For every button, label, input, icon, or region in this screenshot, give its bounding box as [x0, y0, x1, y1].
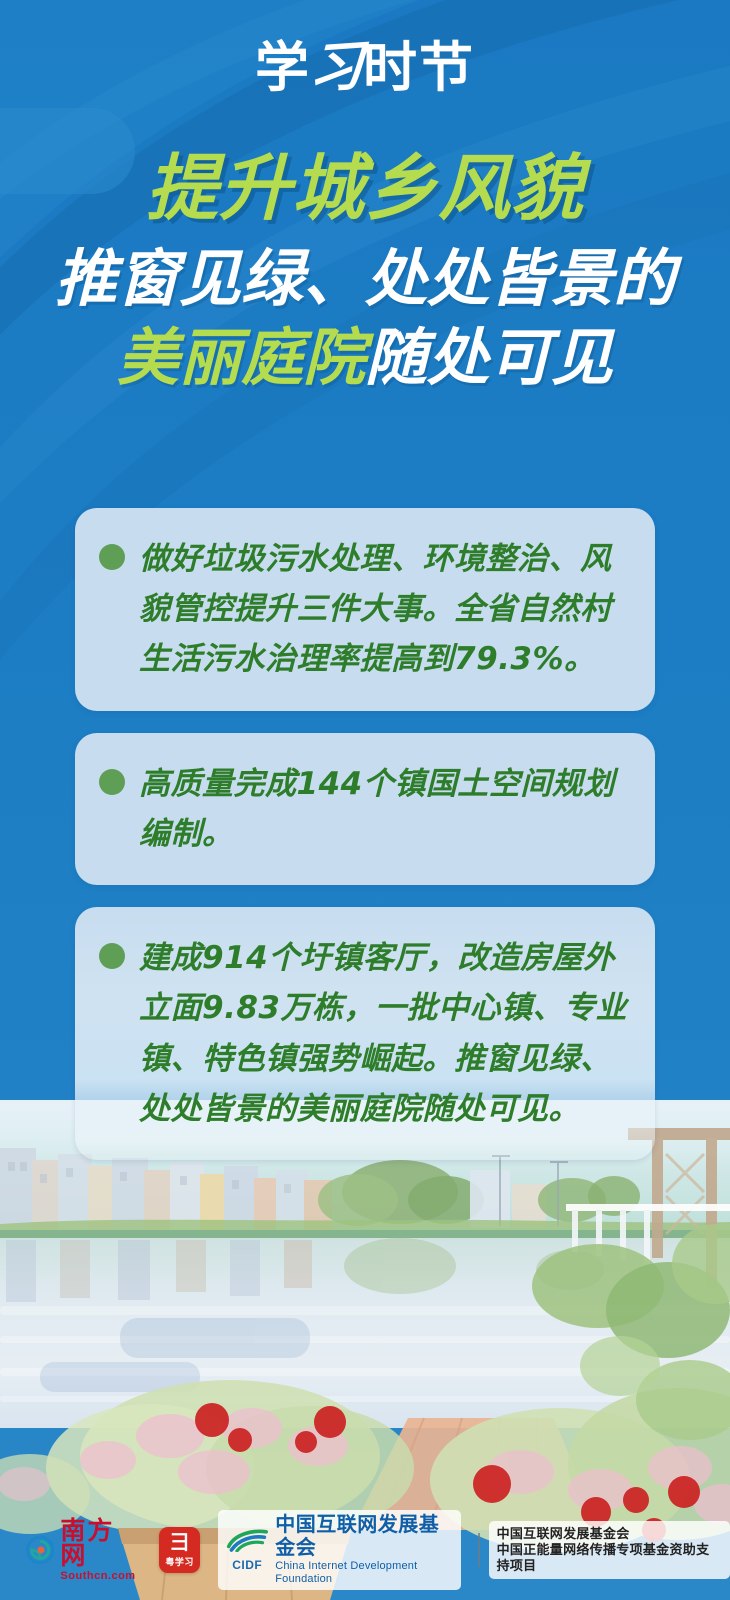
brand-char-script: 习	[308, 38, 366, 96]
wave-network-icon	[226, 1528, 268, 1552]
card-row: 做好垃圾污水处理、环境整治、风貌管控提升三件大事。全省自然村生活污水治理率提高到…	[99, 534, 629, 685]
bullet-dot-icon	[99, 769, 125, 795]
cidf-text: 中国互联网发展基金会 China Internet Development Fo…	[275, 1514, 453, 1585]
cidf-mark: CIDF	[226, 1528, 268, 1572]
cidf-cn: 中国互联网发展基金会	[275, 1514, 453, 1560]
yuexuexi-glyph: 彐	[170, 1532, 190, 1552]
brand-wordmark: 学习时节	[255, 40, 475, 95]
spiral-icon	[26, 1535, 54, 1565]
yuexuexi-badge[interactable]: 彐 粤学习	[159, 1527, 200, 1573]
page-title: 提升城乡风貌	[0, 150, 730, 228]
content-card: 做好垃圾污水处理、环境整治、风貌管控提升三件大事。全省自然村生活污水治理率提高到…	[75, 508, 655, 711]
card-text: 高质量完成144个镇国土空间规划编制。	[139, 759, 629, 859]
brand-char-1: 学	[255, 36, 311, 99]
brand-header: 学习时节	[0, 40, 730, 95]
subtitle-rest: 随处可见	[365, 321, 613, 394]
southcn-cn: 南方网	[60, 1518, 137, 1568]
cidf-logo[interactable]: CIDF 中国互联网发展基金会 China Internet Developme…	[218, 1510, 461, 1589]
yuexuexi-label: 粤学习	[165, 1555, 194, 1568]
card-row: 高质量完成144个镇国土空间规划编制。	[99, 759, 629, 859]
southcn-logo[interactable]: 南方网 Southcn.com	[26, 1518, 137, 1582]
cidf-en: China Internet Development Foundation	[275, 1560, 453, 1585]
fund-line-1: 中国互联网发展基金会	[497, 1526, 722, 1542]
southcn-en: Southcn.com	[60, 1571, 137, 1582]
subtitle-highlight: 美丽庭院	[117, 321, 365, 394]
content-card: 高质量完成144个镇国土空间规划编制。	[75, 733, 655, 885]
title-block: 提升城乡风貌 推窗见绿、处处皆景的 美丽庭院随处可见	[0, 150, 730, 393]
poster-root: 学习时节 提升城乡风貌 推窗见绿、处处皆景的 美丽庭院随处可见 做好垃圾污水处理…	[0, 0, 730, 1600]
footer-divider	[478, 1533, 480, 1567]
subtitle-line-1: 推窗见绿、处处皆景的	[0, 244, 730, 313]
card-text: 做好垃圾污水处理、环境整治、风貌管控提升三件大事。全省自然村生活污水治理率提高到…	[139, 534, 629, 685]
southcn-text: 南方网 Southcn.com	[60, 1518, 137, 1582]
footer-logo-bar: 南方网 Southcn.com 彐 粤学习 CIDF 中国互联网发展基金会 Ch…	[0, 1522, 730, 1578]
cidf-abbr: CIDF	[226, 1558, 268, 1572]
brand-char-rest: 时节	[363, 36, 475, 99]
fund-support-text: 中国互联网发展基金会 中国正能量网络传播专项基金资助支持项目	[489, 1521, 730, 1580]
card-text: 建成914个圩镇客厅，改造房屋外立面9.83万栋，一批中心镇、专业镇、特色镇强势…	[139, 933, 629, 1134]
bullet-dot-icon	[99, 943, 125, 969]
bullet-dot-icon	[99, 544, 125, 570]
fund-line-2: 中国正能量网络传播专项基金资助支持项目	[497, 1542, 722, 1575]
subtitle-line-2: 美丽庭院随处可见	[0, 323, 730, 392]
content-card: 建成914个圩镇客厅，改造房屋外立面9.83万栋，一批中心镇、专业镇、特色镇强势…	[75, 907, 655, 1160]
card-row: 建成914个圩镇客厅，改造房屋外立面9.83万栋，一批中心镇、专业镇、特色镇强势…	[99, 933, 629, 1134]
content-card-list: 做好垃圾污水处理、环境整治、风貌管控提升三件大事。全省自然村生活污水治理率提高到…	[75, 508, 655, 1182]
